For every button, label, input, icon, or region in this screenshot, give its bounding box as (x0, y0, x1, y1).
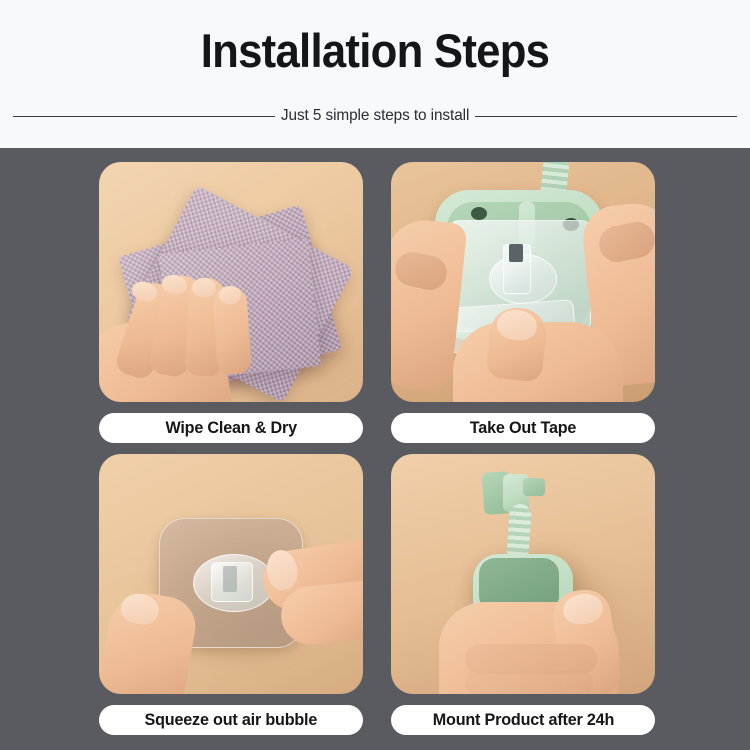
step-label-pill-2: Take Out Tape (391, 413, 655, 443)
steps-grid: Wipe Clean & Dry (0, 148, 750, 750)
step-label-1: Wipe Clean & Dry (165, 418, 296, 438)
step-photo-1 (99, 162, 363, 402)
step-label-2: Take Out Tape (470, 418, 576, 438)
step-card-2[interactable]: Take Out Tape (391, 162, 655, 443)
page-title: Installation Steps (26, 21, 724, 81)
step-card-3[interactable]: Squeeze out air bubble (99, 454, 363, 735)
subtitle-rule-left (13, 116, 275, 117)
page-header: Installation Steps Just 5 simple steps t… (0, 0, 750, 148)
step-label-pill-3: Squeeze out air bubble (99, 705, 363, 735)
step-photo-4 (391, 454, 655, 694)
installation-steps-page: Installation Steps Just 5 simple steps t… (0, 0, 750, 750)
step-photo-3 (99, 454, 363, 694)
step-card-1[interactable]: Wipe Clean & Dry (99, 162, 363, 443)
step-card-4[interactable]: Mount Product after 24h (391, 454, 655, 735)
step-label-pill-4: Mount Product after 24h (391, 705, 655, 735)
step-label-4: Mount Product after 24h (432, 710, 613, 730)
page-subtitle: Just 5 simple steps to install (279, 107, 471, 125)
subtitle-row: Just 5 simple steps to install (13, 100, 737, 132)
step-label-3: Squeeze out air bubble (145, 710, 318, 730)
subtitle-rule-right (475, 116, 737, 117)
step-label-pill-1: Wipe Clean & Dry (99, 413, 363, 443)
step-photo-2 (391, 162, 655, 402)
